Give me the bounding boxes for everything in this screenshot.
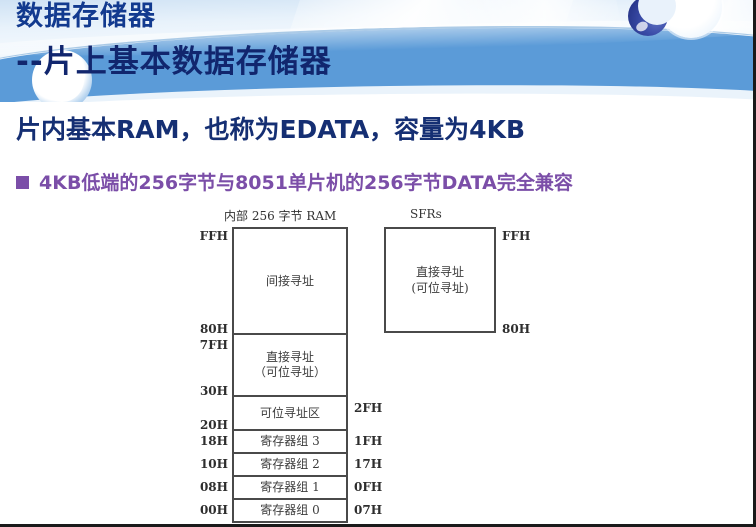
addr-label-10h: 10H — [188, 457, 228, 471]
ram-cell-indirect-label: 间接寻址 — [266, 274, 314, 289]
addr-label-7fh: 7FH — [188, 338, 228, 352]
ram-cell-regbank1: 寄存器组 1 — [234, 477, 346, 500]
ram-cell-regbank3: 寄存器组 3 — [234, 431, 346, 454]
ram-cell-regbank2: 寄存器组 2 — [234, 454, 346, 477]
ram-cell-direct: 直接寻址 （可位寻址） — [234, 335, 346, 397]
ram-cell-regbank1-label: 寄存器组 1 — [260, 480, 319, 495]
addr-label-2fh: 2FH — [354, 401, 382, 415]
sfr-caption: SFRs — [410, 207, 442, 221]
ram-cell-regbank0: 寄存器组 0 — [234, 500, 346, 523]
ram-cell-direct-line1: 直接寻址 — [266, 350, 314, 364]
ram-cell-indirect: 间接寻址 — [234, 229, 346, 335]
sfr-addr-label-80h: 80H — [502, 322, 530, 336]
section-heading: 片内基本RAM，也称为EDATA，容量为4KB — [16, 110, 525, 146]
sfr-box-line2: (可位寻址) — [411, 280, 468, 296]
ram-column: 间接寻址 直接寻址 （可位寻址） 可位寻址区 寄存器组 3 寄存器组 2 寄存器… — [232, 227, 348, 523]
addr-label-80h: 80H — [188, 322, 228, 336]
sfr-box-line1: 直接寻址 — [416, 264, 464, 280]
ram-cell-direct-line2: （可位寻址） — [254, 365, 326, 379]
bullet-item-label: 4KB低端的256字节与8051单片机的256字节DATA完全兼容 — [39, 168, 573, 195]
addr-label-20h: 20H — [188, 418, 228, 432]
addr-label-00h: 00H — [188, 503, 228, 517]
ram-cell-regbank2-label: 寄存器组 2 — [260, 457, 319, 472]
ram-cell-direct-label: 直接寻址 （可位寻址） — [254, 350, 326, 380]
memory-map-diagram: 内部 256 字节 RAM SFRs 间接寻址 直接寻址 （可位寻址） 可位寻址… — [188, 205, 588, 523]
ram-cell-bitaddressable: 可位寻址区 — [234, 397, 346, 431]
addr-label-08h: 08H — [188, 480, 228, 494]
addr-label-07h: 07H — [354, 503, 382, 517]
ram-cell-regbank3-label: 寄存器组 3 — [260, 434, 319, 449]
bullet-item: 4KB低端的256字节与8051单片机的256字节DATA完全兼容 — [16, 168, 573, 195]
sfr-box: 直接寻址 (可位寻址) — [384, 227, 496, 333]
sfr-addr-label-ffh: FFH — [502, 229, 530, 243]
ram-cell-regbank0-label: 寄存器组 0 — [260, 503, 319, 518]
square-bullet-icon — [16, 176, 29, 189]
addr-label-ffh: FFH — [188, 229, 228, 243]
page-title: 数据存储器 — [16, 2, 156, 32]
addr-label-1fh: 1FH — [354, 434, 382, 448]
addr-label-0fh: 0FH — [354, 480, 382, 494]
addr-label-18h: 18H — [188, 434, 228, 448]
ram-caption: 内部 256 字节 RAM — [224, 207, 336, 224]
ram-cell-bitaddressable-label: 可位寻址区 — [260, 406, 320, 421]
slide-header: 数据存储器 --片上基本数据存储器 — [0, 0, 756, 102]
slide-canvas: 数据存储器 --片上基本数据存储器 片内基本RAM，也称为EDATA，容量为4K… — [0, 0, 756, 527]
addr-label-17h: 17H — [354, 457, 382, 471]
addr-label-30h: 30H — [188, 384, 228, 398]
page-subtitle: --片上基本数据存储器 — [16, 45, 332, 79]
